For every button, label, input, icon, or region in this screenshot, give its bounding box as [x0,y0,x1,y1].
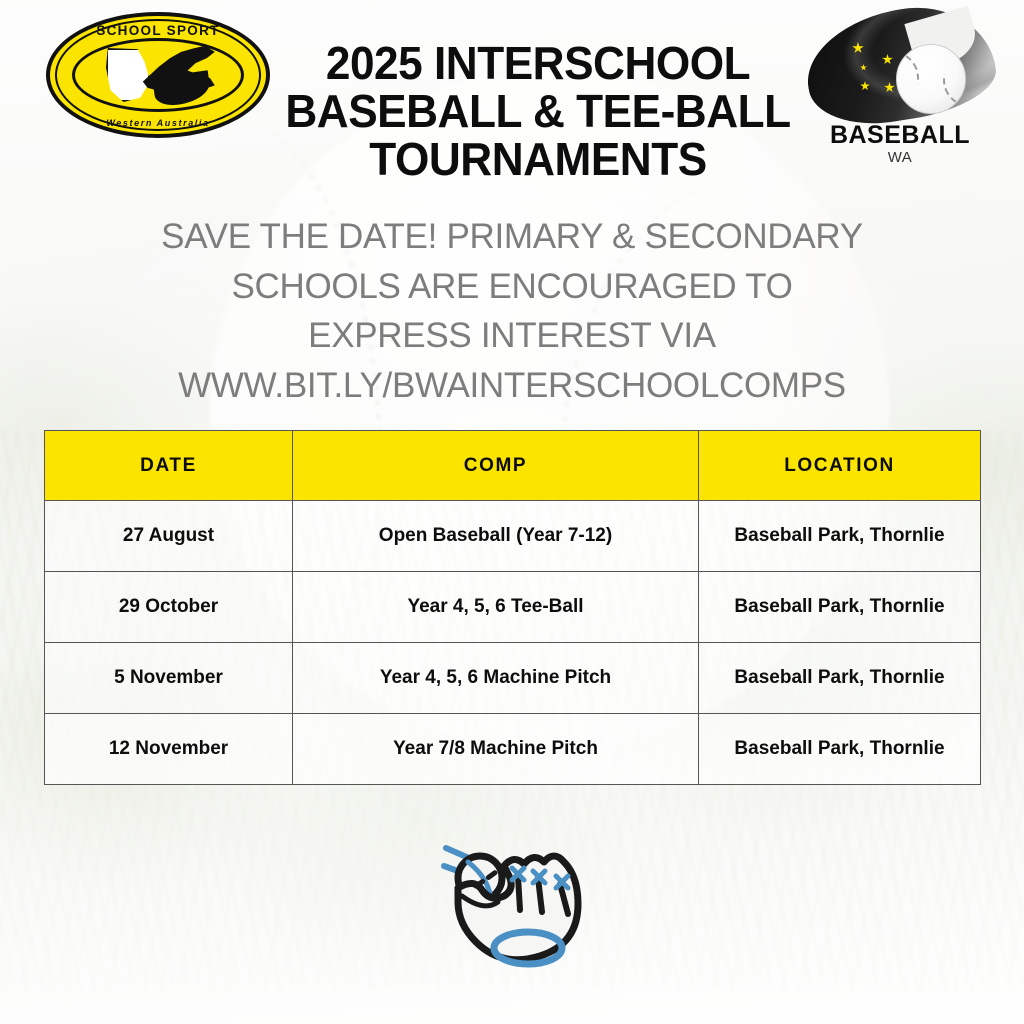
cell-date: 29 October [45,572,293,643]
subtitle-line-3: EXPRESS INTEREST VIA [62,311,962,361]
baseball-glove-icon [432,832,612,992]
table-header-row: DATE COMP LOCATION [45,431,981,501]
column-header-location: LOCATION [699,431,981,501]
cell-comp: Year 7/8 Machine Pitch [293,714,699,785]
cell-comp: Year 4, 5, 6 Tee-Ball [293,572,699,643]
baseball-wa-name: BASEBALL [800,121,1000,150]
logo-top-text: SCHOOL SPORT [46,23,270,38]
subtitle-url[interactable]: WWW.BIT.LY/BWAINTERSCHOOLCOMPS [62,361,962,411]
baseball-wa-state: WA [800,149,1000,166]
poster-header: SCHOOL SPORT Western Australia 2025 INTE… [0,0,1024,200]
tournament-schedule-table: DATE COMP LOCATION 27 August Open Baseba… [44,430,981,785]
table-row: 12 November Year 7/8 Machine Pitch Baseb… [45,714,981,785]
table-row: 29 October Year 4, 5, 6 Tee-Ball Basebal… [45,572,981,643]
title-line-2: BASEBALL & TEE-BALL [273,88,803,136]
school-sport-wa-logo-icon: SCHOOL SPORT Western Australia [46,12,270,138]
cell-comp: Open Baseball (Year 7-12) [293,501,699,572]
column-header-comp: COMP [293,431,699,501]
table-row: 5 November Year 4, 5, 6 Machine Pitch Ba… [45,643,981,714]
cell-location: Baseball Park, Thornlie [699,714,981,785]
cell-date: 27 August [45,501,293,572]
cell-location: Baseball Park, Thornlie [699,643,981,714]
title-line-1: 2025 INTERSCHOOL [273,40,803,88]
subtitle-line-1: SAVE THE DATE! PRIMARY & SECONDARY [62,212,962,262]
cell-comp: Year 4, 5, 6 Machine Pitch [293,643,699,714]
baseball-wa-logo-icon: BASEBALL WA [800,6,1000,166]
logo-bottom-text: Western Australia [46,118,270,128]
table-row: 27 August Open Baseball (Year 7-12) Base… [45,501,981,572]
poster-content: SCHOOL SPORT Western Australia 2025 INTE… [0,0,1024,1024]
baseball-seam-left [896,44,929,114]
cell-location: Baseball Park, Thornlie [699,572,981,643]
title-line-3: TOURNAMENTS [273,136,803,184]
cell-date: 5 November [45,643,293,714]
poster-subtitle: SAVE THE DATE! PRIMARY & SECONDARY SCHOO… [62,212,962,411]
baseball-seam-right [933,44,966,114]
column-header-date: DATE [45,431,293,501]
cell-date: 12 November [45,714,293,785]
cell-location: Baseball Park, Thornlie [699,501,981,572]
baseball-icon [896,44,966,114]
poster-title: 2025 INTERSCHOOL BASEBALL & TEE-BALL TOU… [273,40,803,183]
subtitle-line-2: SCHOOLS ARE ENCOURAGED TO [62,262,962,312]
